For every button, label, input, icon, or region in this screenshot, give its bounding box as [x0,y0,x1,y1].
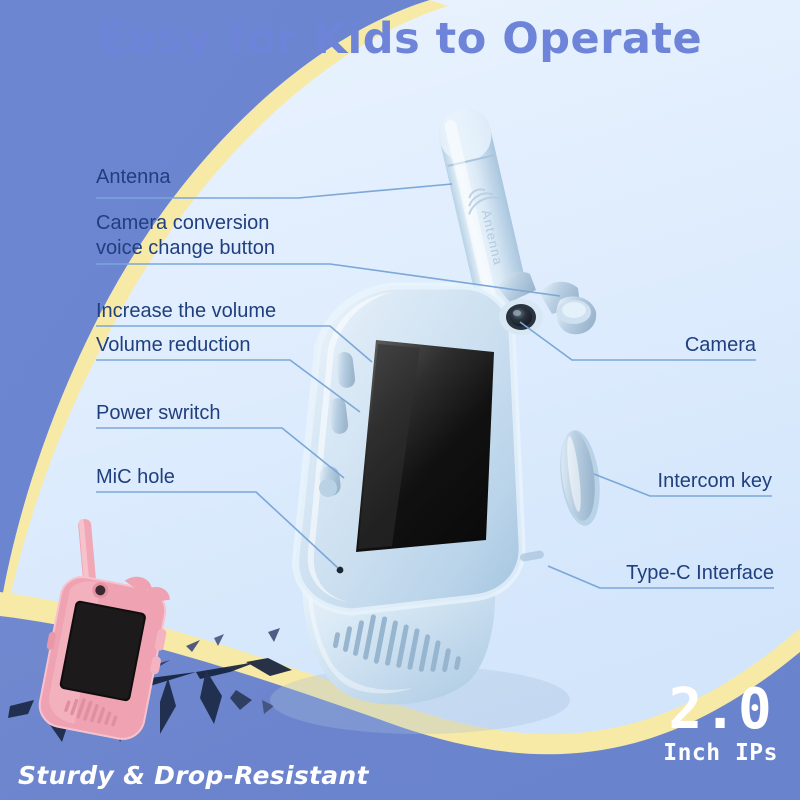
callout-intercom-key[interactable]: Intercom key [658,469,772,494]
callout-mic-hole[interactable]: MiC hole [96,465,175,490]
screen-size-badge: 2.0 Inch IPs [663,683,778,766]
page-title: Easy for Kids to Operate [0,14,800,64]
callout-volume-up-label: Increase the volume [96,299,276,324]
callout-power-switch-label: Power swritch [96,401,220,426]
callout-camera-conversion-label-line2: voice change button [96,236,275,261]
callout-camera-label: Camera [685,333,756,358]
callout-volume-up[interactable]: Increase the volume [96,299,276,324]
callout-camera-conversion-label-line1: Camera conversion [96,211,275,236]
callout-intercom-key-label: Intercom key [658,469,772,494]
callout-volume-down-label: Volume reduction [96,333,251,358]
durability-caption: Sturdy & Drop-Resistant [18,761,369,790]
screen-size-value: 2.0 [663,683,778,736]
callout-volume-down[interactable]: Volume reduction [96,333,251,358]
callout-camera[interactable]: Camera [685,333,756,358]
leader-camera-convert [96,264,560,296]
callout-mic-hole-label: MiC hole [96,465,175,490]
callout-camera-conversion[interactable]: Camera conversion voice change button [96,211,275,261]
screen-size-unit: Inch IPs [663,740,778,766]
callout-antenna[interactable]: Antenna [96,165,171,190]
callout-power-switch[interactable]: Power swritch [96,401,220,426]
callout-type-c[interactable]: Type-C Interface [626,561,774,586]
callout-antenna-label: Antenna [96,165,171,190]
leader-mic [96,492,338,568]
callout-type-c-label: Type-C Interface [626,561,774,586]
infographic-canvas: Antenna [0,0,800,800]
